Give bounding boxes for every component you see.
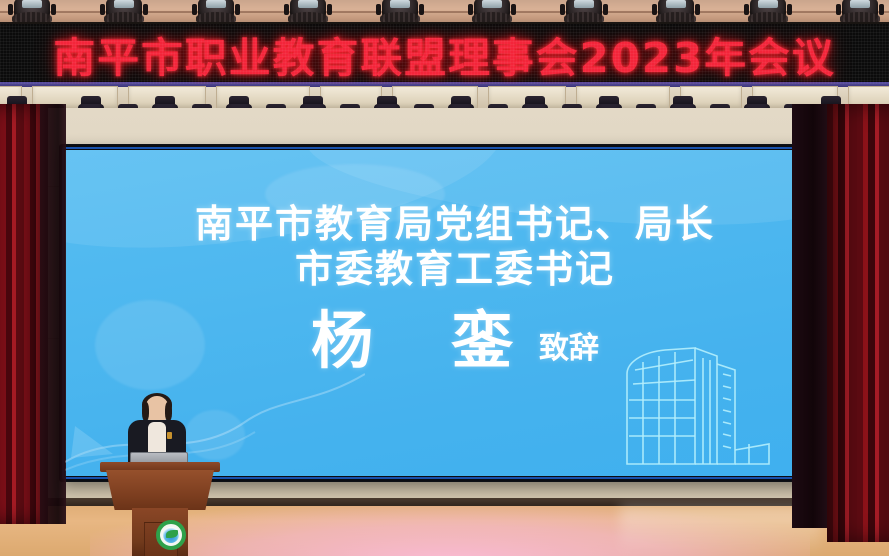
- podium-column: [132, 508, 188, 556]
- led-banner-text: 南平市职业教育联盟理事会2023年会议: [53, 24, 835, 84]
- slide-line-2: 市委教育工委书记: [65, 247, 845, 292]
- curtain-left-dark: [40, 104, 66, 524]
- ribbon-swoosh-icon: [65, 366, 365, 476]
- stage-scene: 南平市职业教育联盟理事会2023年会议: [0, 0, 889, 556]
- speaker-surname: 杨: [311, 310, 373, 372]
- speaker-name-row: 杨 銮 致辞: [65, 310, 845, 372]
- slide-text-block: 南平市教育局党组书记、局长 市委教育工委书记 杨 銮 致辞: [65, 202, 845, 372]
- speaker-badge: [167, 432, 172, 439]
- podium-body: [106, 470, 214, 510]
- speaker-hair-left: [142, 402, 149, 421]
- led-banner: 南平市职业教育联盟理事会2023年会议: [0, 22, 889, 87]
- floor-reflection: [620, 506, 820, 556]
- speaker-blouse: [148, 422, 166, 454]
- speaker-given-name: 銮: [451, 310, 513, 372]
- school-emblem-icon: [156, 520, 186, 550]
- speaker-hair-right: [165, 402, 172, 421]
- slide-line-1: 南平市教育局党组书记、局长: [65, 202, 845, 247]
- speech-action-label: 致辞: [539, 323, 599, 367]
- podium: [100, 462, 220, 556]
